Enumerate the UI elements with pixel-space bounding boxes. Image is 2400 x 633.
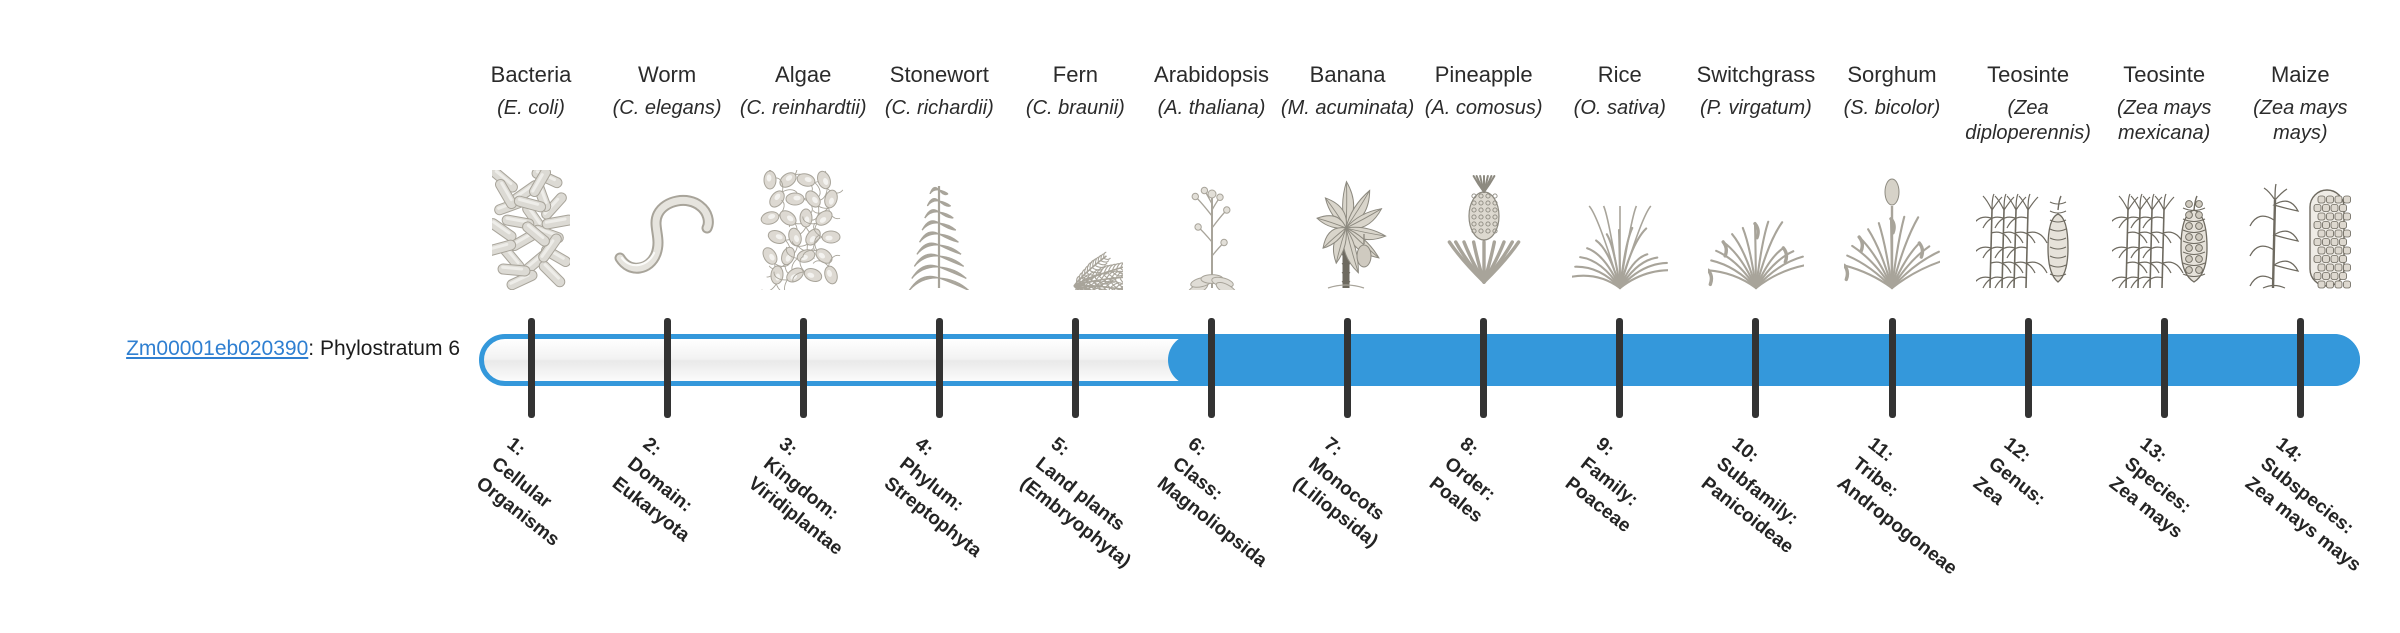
species-common-name: Fern [1000,62,1150,88]
species-scientific-name: (S. bicolor) [1817,96,1967,121]
stonewort-icon [864,170,1014,290]
level-tick [2025,318,2032,418]
teosinte-diplo-icon [1953,170,2103,290]
species-common-name: Algae [728,62,878,88]
species-common-name: Teosinte [1953,62,2103,88]
species-scientific-name: (A. thaliana) [1137,96,1287,121]
species-common-name: Stonewort [864,62,1014,88]
arabidopsis-icon [1137,170,1287,290]
species-common-name: Bacteria [456,62,606,88]
level-tick [2297,318,2304,418]
level-tick [528,318,535,418]
species-scientific-name: (O. sativa) [1545,96,1695,121]
level-tick [1072,318,1079,418]
phylostratum-value-text: Phylostratum 6 [320,337,460,360]
level-tick [800,318,807,418]
species-scientific-name: (C. richardii) [864,96,1014,121]
species-scientific-name: (Zea mays mexicana) [2089,96,2239,146]
pineapple-icon [1409,170,1559,290]
ecoli-icon [456,170,606,290]
level-tick [936,318,943,418]
level-tick [1616,318,1623,418]
species-common-name: Rice [1545,62,1695,88]
level-tick [664,318,671,418]
gene-phylostratum-label: Zm00001eb020390: Phylostratum 6 [40,337,460,361]
species-common-name: Teosinte [2089,62,2239,88]
level-tick [1344,318,1351,418]
banana-icon [1273,170,1423,290]
switchgrass-icon [1681,170,1831,290]
species-scientific-name: (A. comosus) [1409,96,1559,121]
species-scientific-name: (Zea diploperennis) [1953,96,2103,146]
gene-id-link[interactable]: Zm00001eb020390 [126,337,308,360]
level-tick [1752,318,1759,418]
sorghum-icon [1817,170,1967,290]
species-scientific-name: (E. coli) [456,96,606,121]
level-tick [1208,318,1215,418]
worm-icon [592,170,742,290]
species-common-name: Arabidopsis [1137,62,1287,88]
species-common-name: Pineapple [1409,62,1559,88]
level-tick [1480,318,1487,418]
species-common-name: Worm [592,62,742,88]
species-common-name: Maize [2225,62,2375,88]
level-tick [2161,318,2168,418]
phylostratum-timeline: Zm00001eb020390: Phylostratum 6 Bacteria… [0,0,2400,580]
species-scientific-name: (Zea mays mays) [2225,96,2375,146]
species-scientific-name: (C. elegans) [592,96,742,121]
species-scientific-name: (C. braunii) [1000,96,1150,121]
algae-icon [728,170,878,290]
species-common-name: Sorghum [1817,62,1967,88]
species-scientific-name: (M. acuminata) [1273,96,1423,121]
species-common-name: Banana [1273,62,1423,88]
species-common-name: Switchgrass [1681,62,1831,88]
rice-icon [1545,170,1695,290]
maize-icon [2225,170,2375,290]
species-scientific-name: (C. reinhardtii) [728,96,878,121]
teosinte-mex-icon [2089,170,2239,290]
fern-icon [1000,170,1150,290]
gene-label-separator: : [308,337,320,360]
species-scientific-name: (P. virgatum) [1681,96,1831,121]
level-tick [1889,318,1896,418]
